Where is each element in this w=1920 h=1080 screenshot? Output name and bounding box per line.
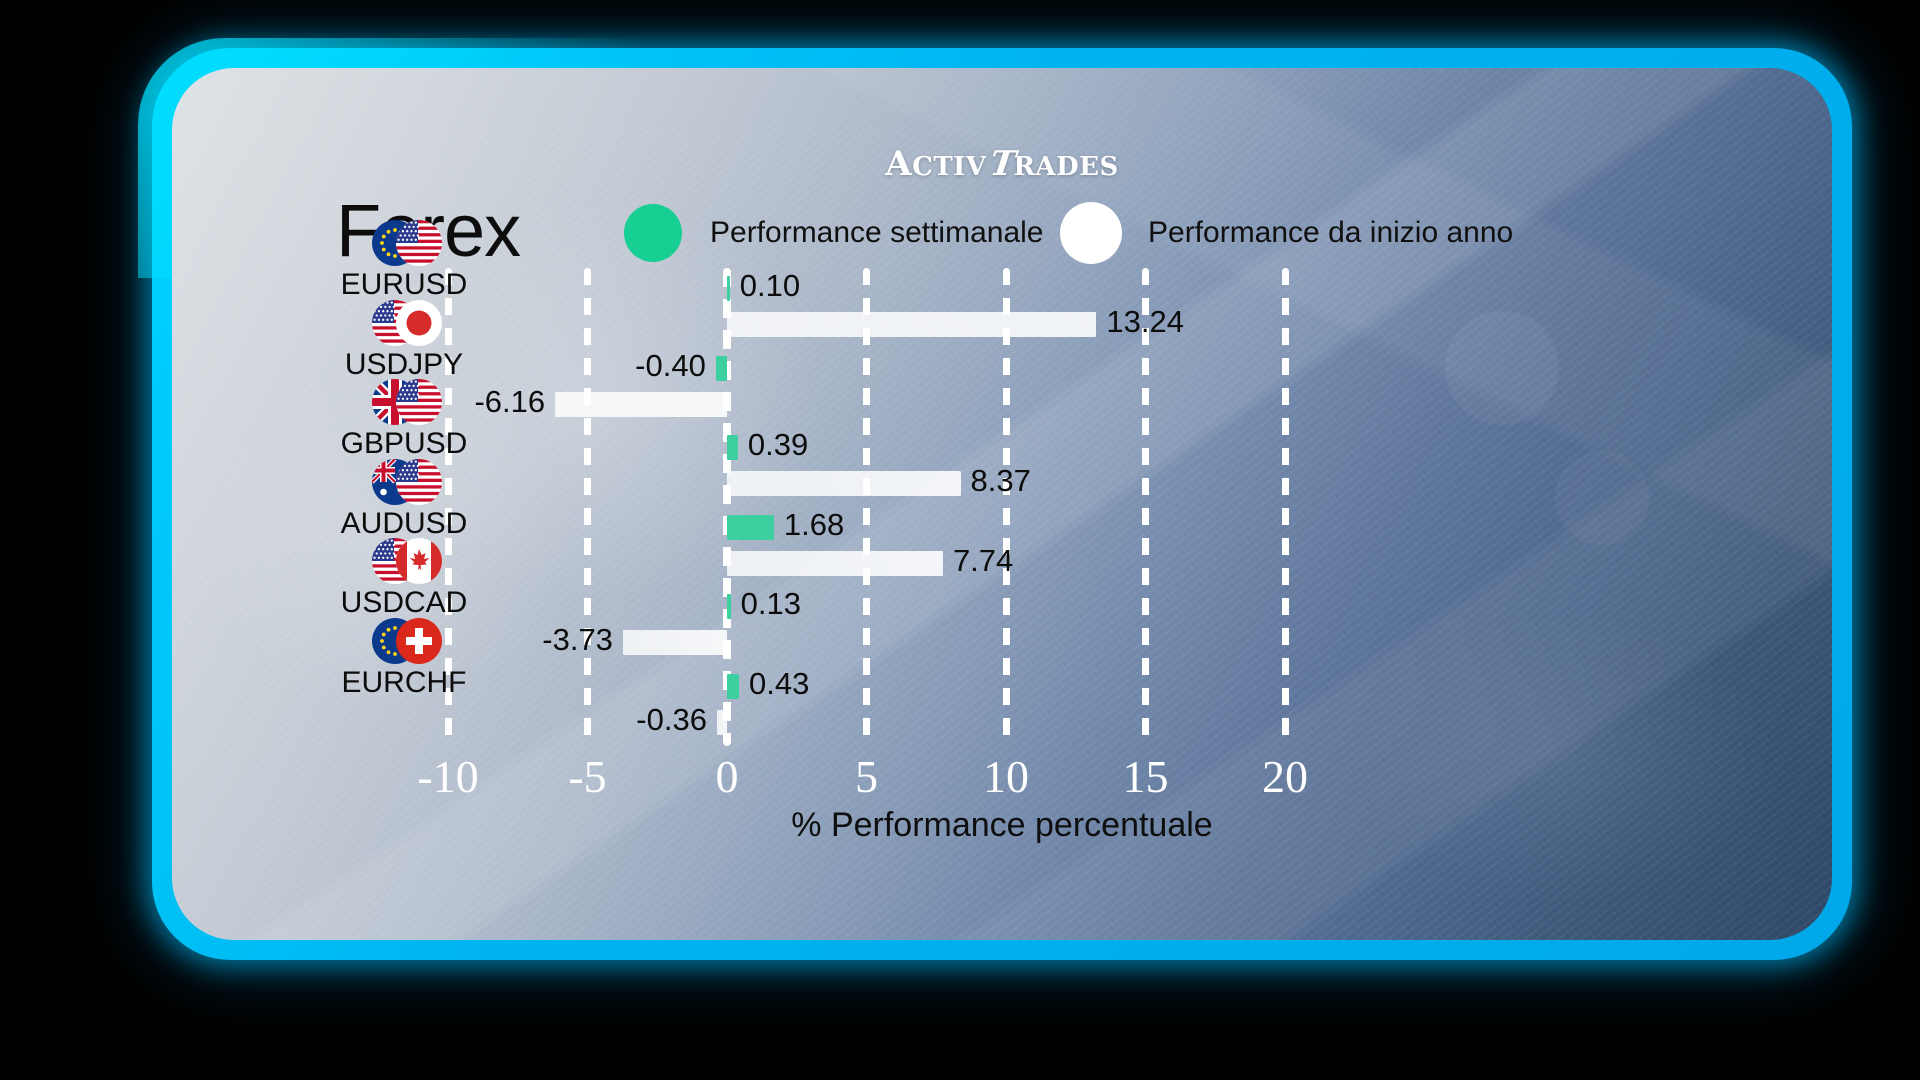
ytd-gbpusd-bar bbox=[727, 471, 961, 496]
flag-ca-icon bbox=[396, 538, 442, 584]
pair-label-audusd: AUDUSD bbox=[284, 507, 524, 541]
weekly-usdcad-value-label: 0.13 bbox=[741, 591, 801, 616]
ytd-usdcad-value-label: -3.73 bbox=[542, 627, 613, 652]
weekly-eurchf-bar bbox=[727, 674, 739, 699]
screenshot-canvas: ACTIVTRADES Forex Performance settimanal… bbox=[0, 0, 1920, 1080]
weekly-usdcad-bar bbox=[727, 594, 731, 619]
weekly-eurusd-value-label: 0.10 bbox=[740, 273, 800, 298]
ytd-eurchf-bar bbox=[717, 710, 727, 735]
weekly-gbpusd-bar bbox=[727, 435, 738, 460]
ytd-audusd-value-label: 7.74 bbox=[953, 548, 1013, 573]
flag-pair bbox=[284, 379, 524, 425]
flag-pair bbox=[284, 220, 524, 266]
ytd-audusd-bar bbox=[727, 551, 943, 576]
pair-label-eurusd: EURUSD bbox=[284, 268, 524, 302]
flag-pair bbox=[284, 459, 524, 505]
weekly-usdjpy-bar bbox=[716, 356, 727, 381]
weekly-audusd-bar bbox=[727, 515, 774, 540]
x-tick-label-0: 0 bbox=[716, 750, 739, 803]
pair-label-usdjpy: USDJPY bbox=[284, 348, 524, 382]
x-axis-title: % Performance percentuale bbox=[172, 806, 1832, 845]
chart-card: ACTIVTRADES Forex Performance settimanal… bbox=[172, 68, 1832, 940]
pair-label-usdcad: USDCAD bbox=[284, 586, 524, 620]
flag-jp-icon bbox=[396, 300, 442, 346]
x-tick-label--10: -10 bbox=[417, 750, 478, 803]
x-tick-label-10: 10 bbox=[983, 750, 1029, 803]
weekly-gbpusd-value-label: 0.39 bbox=[748, 432, 808, 457]
flag-ch-icon bbox=[396, 618, 442, 664]
flag-us-icon bbox=[396, 459, 442, 505]
chart-row: EURCHF0.43-0.36 bbox=[172, 670, 1832, 748]
weekly-audusd-value-label: 1.68 bbox=[784, 512, 844, 537]
plot-area: -10-505101520% Performance percentuale E… bbox=[172, 68, 1832, 940]
ytd-gbpusd-value-label: 8.37 bbox=[971, 468, 1031, 493]
ytd-usdcad-bar bbox=[623, 630, 727, 655]
x-tick-label--5: -5 bbox=[568, 750, 606, 803]
ytd-eurchf-value-label: -0.36 bbox=[636, 707, 707, 732]
pair-label-gbpusd: GBPUSD bbox=[284, 427, 524, 461]
ytd-eurusd-bar bbox=[727, 312, 1096, 337]
x-tick-label-5: 5 bbox=[855, 750, 878, 803]
flag-us-icon bbox=[396, 220, 442, 266]
ytd-usdjpy-bar bbox=[555, 392, 727, 417]
flag-pair bbox=[284, 300, 524, 346]
x-tick-label-15: 15 bbox=[1123, 750, 1169, 803]
weekly-usdjpy-value-label: -0.40 bbox=[635, 353, 706, 378]
weekly-eurchf-value-label: 0.43 bbox=[749, 671, 809, 696]
flag-pair bbox=[284, 538, 524, 584]
flag-us-icon bbox=[396, 379, 442, 425]
flag-pair bbox=[284, 618, 524, 664]
x-tick-label-20: 20 bbox=[1262, 750, 1308, 803]
ytd-eurusd-value-label: 13.24 bbox=[1106, 309, 1184, 334]
weekly-eurusd-bar bbox=[727, 276, 730, 301]
pair-label-eurchf: EURCHF bbox=[284, 666, 524, 700]
